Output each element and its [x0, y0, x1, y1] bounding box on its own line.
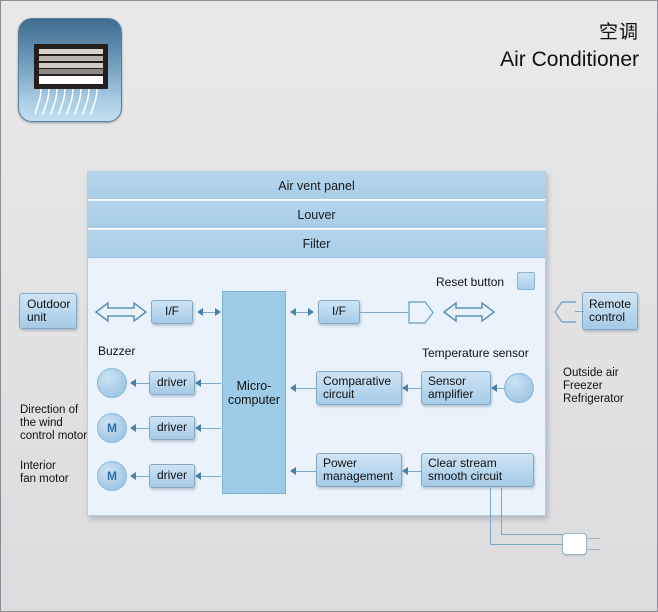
- band-filter: Filter: [88, 230, 545, 258]
- arrow-head-left: [130, 379, 136, 387]
- interface-right-box: I/F: [318, 300, 360, 324]
- power-management-box: Power management: [316, 453, 402, 487]
- arrow-head-left: [402, 384, 408, 392]
- driver-wind-motor-box: driver: [149, 416, 195, 440]
- arrow-head-left: [290, 467, 296, 475]
- temperature-sensor: [504, 373, 534, 403]
- arrow-head-left: [197, 308, 203, 316]
- air-conditioner-icon: [18, 18, 122, 122]
- outdoor-unit-label-line2: unit: [27, 311, 46, 325]
- interior-fan-motor: M: [97, 461, 127, 491]
- diagram-canvas: 空调 Air Conditioner Outdoor unit Remote c…: [0, 0, 658, 612]
- sensor-amplifier-box: Sensor amplifier: [421, 371, 491, 405]
- arrow-head-left: [130, 424, 136, 432]
- ir-emitter-icon: [554, 299, 580, 325]
- arrow-head-right: [308, 308, 314, 316]
- buzzer: [97, 368, 127, 398]
- title-chinese: 空调: [500, 21, 639, 45]
- clear-stream-smooth-circuit-box: Clear stream smooth circuit: [421, 453, 534, 487]
- outdoor-unit-label-line1: Outdoor: [27, 298, 70, 312]
- arrow-head-right: [215, 308, 221, 316]
- remote-link-double-arrow-icon: [443, 297, 495, 327]
- driver-fan-motor-box: driver: [149, 464, 195, 488]
- plug-prong-top: [587, 538, 600, 539]
- remote-control-label-line2: control: [589, 311, 625, 325]
- power-cord-line-2: [501, 487, 502, 534]
- remote-control-label-line1: Remote: [589, 298, 631, 312]
- arrow-head-left: [195, 379, 201, 387]
- airflow-lines-icon: [35, 89, 109, 119]
- driver-buzzer-box: driver: [149, 371, 195, 395]
- outdoor-link-double-arrow-icon: [95, 297, 147, 327]
- arrow-head-left: [195, 424, 201, 432]
- fan-motor-label: Interior fan motor: [20, 460, 92, 486]
- reset-button-label: Reset button: [436, 276, 504, 289]
- outdoor-unit-box: Outdoor unit: [19, 293, 77, 329]
- power-cord-line-1: [490, 487, 491, 544]
- title-english: Air Conditioner: [500, 47, 639, 73]
- temperature-sensor-label: Temperature sensor: [422, 347, 529, 360]
- ir-receiver-link-line: [360, 312, 409, 313]
- reset-button[interactable]: [517, 272, 535, 290]
- interface-left-box: I/F: [151, 300, 193, 324]
- comparative-circuit-box: Comparative circuit: [316, 371, 402, 405]
- buzzer-label: Buzzer: [98, 345, 135, 358]
- outside-air-label: Outside air Freezer Refrigerator: [563, 367, 655, 406]
- band-air-vent-panel: Air vent panel: [88, 172, 545, 200]
- ir-receiver-icon: [407, 300, 435, 326]
- louver-stripes-icon: [34, 44, 108, 89]
- remote-link-line: [575, 311, 584, 312]
- micro-computer-block: Micro- computer: [222, 291, 286, 494]
- wind-motor-label: Direction of the wind control motor: [20, 404, 92, 443]
- power-cord-line-1b: [490, 544, 563, 545]
- page-title: 空调 Air Conditioner: [500, 21, 639, 73]
- power-plug: [562, 533, 587, 555]
- arrow-head-left: [290, 308, 296, 316]
- arrow-head-left: [402, 467, 408, 475]
- plug-prong-bottom: [587, 549, 600, 550]
- arrow-head-left: [130, 472, 136, 480]
- arrow-head-left: [290, 384, 296, 392]
- power-cord-line-2b: [501, 534, 563, 535]
- band-louver: Louver: [88, 201, 545, 229]
- wind-direction-motor: M: [97, 413, 127, 443]
- remote-control-box: Remote control: [582, 292, 638, 330]
- arrow-head-left: [195, 472, 201, 480]
- arrow-head-left: [491, 384, 497, 392]
